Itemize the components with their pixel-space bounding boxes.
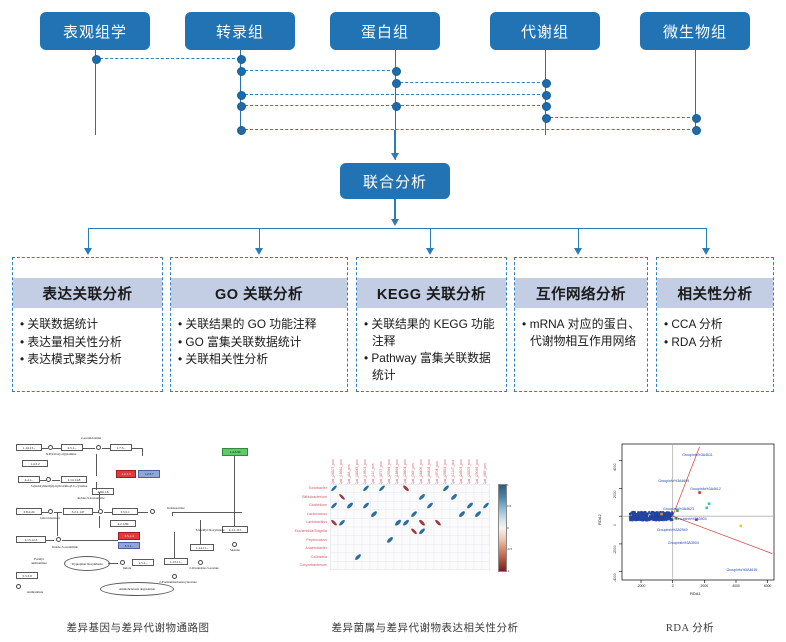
rda-sample-label: GroupInfo%3A3903: [668, 541, 699, 545]
kegg-compound-node: [46, 477, 51, 482]
arrow-head-icon: [574, 248, 582, 255]
link-transcriptome-proteome: [240, 70, 395, 71]
rda-x-tick-label: 4000: [730, 584, 742, 588]
colorbar-tick-label: 1: [507, 483, 509, 487]
rda-sample-label: GroupInfo%3A4611: [682, 453, 713, 457]
kegg-compound-label: 2-acetaldoxime: [71, 436, 111, 440]
card-bullet: • RDA 分析: [664, 334, 766, 351]
figure-caption-rda: RDA 分析: [600, 620, 780, 635]
kegg-edge: [42, 448, 48, 449]
link-epi-transcriptome: [95, 58, 240, 59]
kegg-edge: [108, 563, 118, 564]
kegg-node: 1.2.3.7: [138, 470, 160, 478]
kegg-edge: [54, 512, 62, 513]
kegg-node: 1.4.3.99: [222, 448, 248, 456]
kegg-compound-node: [98, 509, 103, 514]
figure-kegg-pathway: 1.14.13.-2.5.1.-2-acetaldoxime1.7.3.-N-H…: [8, 432, 264, 604]
rda-sample-label: GroupInfo%3A4623: [663, 507, 694, 511]
omics-box-label: 表观组学: [63, 21, 127, 42]
link-dot: [237, 102, 246, 111]
link-dot: [542, 91, 551, 100]
link-dot: [237, 55, 246, 64]
card-bullet: • Pathway 富集关联数据统计: [364, 350, 499, 383]
kegg-compound-label: Skatole: [224, 548, 246, 552]
correlation-column-label: Cpd_j25394_pos: [387, 459, 391, 485]
rda-x-tick-label: -2000: [635, 584, 647, 588]
omics-box-label: 蛋白组: [361, 21, 409, 42]
kegg-compound-node: [48, 509, 53, 514]
analysis-card-go-correlation[interactable]: GO 关联分析 • 关联结果的 GO 功能注释 • GO 富集关联数据统计 • …: [170, 257, 348, 392]
kegg-compound-label: Indole: [116, 566, 138, 570]
kegg-compound-label: Formyl anthranilate: [26, 557, 52, 566]
link-transcriptome-metabolome: [240, 94, 545, 95]
arrow-head-icon: [391, 153, 399, 160]
link-dot: [237, 91, 246, 100]
distribution-bus: [88, 228, 707, 229]
correlation-column-label: Cpd_j28305_pos: [467, 459, 471, 485]
flow-diagram: 表观组学 转录组 蛋白组 代谢组 微生物组: [0, 0, 786, 400]
kegg-edge: [142, 448, 143, 456]
kegg-map-link: Tryptophan biosynthesis: [64, 556, 110, 571]
colorbar-tick-label: -1: [507, 569, 510, 573]
rda-sample-label: GroupInfo%3A4615: [727, 568, 758, 572]
rda-sample-label: GroupInfo%3A4612: [690, 487, 721, 491]
correlation-colorbar: [498, 484, 507, 572]
card-bullet: • CCA 分析: [664, 316, 766, 333]
rda-point: [660, 513, 663, 516]
arrow-joint-to-bus: [394, 199, 395, 221]
card-bullet: • 表达模式聚类分析: [20, 351, 155, 368]
figure-caption-pathway: 差异基因与差异代谢物通路图: [8, 620, 268, 635]
rda-point: [698, 491, 701, 494]
rda-x-tick-label: 0: [667, 584, 679, 588]
colorbar-tick-label: 0.5: [507, 504, 511, 508]
link-dot: [692, 114, 701, 123]
card-bullet: • 关联相关性分析: [178, 351, 340, 368]
link-dot: [542, 102, 551, 111]
kegg-node: 1.14.13.-: [16, 444, 42, 451]
kegg-compound-node: [172, 574, 177, 579]
kegg-node: 4.2.1.84: [110, 520, 136, 527]
kegg-edge: [172, 512, 242, 513]
card-title: GO 关联分析: [171, 278, 347, 308]
kegg-compound-label: N-Hydroxy-tryptamine: [44, 452, 78, 456]
correlation-column-label: Cpd_j28406_pos: [419, 459, 423, 485]
kegg-edge: [53, 448, 61, 449]
link-dot: [392, 67, 401, 76]
card-body: • 关联结果的 GO 功能注释 • GO 富集关联数据统计 • 关联相关性分析: [171, 314, 347, 387]
kegg-compound-label: Anthranilate: [20, 590, 50, 594]
correlation-column-label: Cpd_j8717_pos: [379, 461, 383, 485]
kegg-edge: [46, 540, 54, 541]
omics-box-label: 转录组: [216, 21, 264, 42]
analysis-card-kegg-correlation[interactable]: KEGG 关联分析 • 关联结果的 KEGG 功能注释 • Pathway 富集…: [356, 257, 507, 392]
kegg-node: 4.4.1.-: [18, 476, 40, 483]
omics-box-metabolome[interactable]: 代谢组: [490, 12, 600, 50]
link-dot: [392, 102, 401, 111]
omics-box-microbiome[interactable]: 微生物组: [640, 12, 750, 50]
omics-box-label: 微生物组: [663, 21, 727, 42]
correlation-column-label: Cpd_j29824_pos: [443, 459, 447, 485]
correlation-column-label: Cpd_j465_pos: [483, 463, 487, 485]
arrow-head-icon: [84, 248, 92, 255]
kegg-node: 1.13.12.3: [16, 536, 46, 543]
kegg-edge: [96, 454, 97, 476]
kegg-node: 1.14.14.8: [61, 476, 87, 483]
link-proteome-metabolome: [395, 82, 545, 83]
kegg-compound-node: [150, 509, 155, 514]
omics-box-proteome[interactable]: 蛋白组: [330, 12, 440, 50]
correlation-column-label: Cpd_j19503_pos: [363, 459, 367, 485]
rda-y-tick-label: 2000: [613, 491, 617, 499]
kegg-edge: [172, 512, 173, 516]
kegg-node: 1.2.1.3: [116, 470, 136, 478]
kegg-compound-label: Indoleacetate: [158, 506, 194, 510]
arrow-head-icon: [255, 248, 263, 255]
correlation-column-label: Cpd_j28307_pos: [331, 459, 335, 485]
bus-drop-4: [578, 228, 579, 250]
figure-correlation-ellipses: Cpd_j28307_posCpd_j18931_posCpd_jAA_posC…: [292, 432, 560, 604]
card-body: • mRNA 对应的蛋白、代谢物相互作用网络: [515, 314, 647, 387]
rda-y-axis-label: RDA2: [597, 514, 602, 525]
link-dot: [92, 55, 101, 64]
rda-sample-label: GroupInfo%3A4609: [658, 479, 689, 483]
correlation-column-label: Cpd_j110_pos: [371, 463, 375, 485]
kegg-node: 2.5.1.-: [132, 559, 154, 566]
card-bullet: • 表达量相关性分析: [20, 334, 155, 351]
link-dot: [542, 114, 551, 123]
kegg-edge: [62, 540, 118, 541]
rda-x-axis-label: RDA1: [690, 591, 701, 596]
rda-point: [739, 525, 742, 528]
correlation-row-label: Lactococcus: [292, 512, 327, 516]
kegg-node: 3.3.1.-: [118, 542, 140, 549]
correlation-row-label: Clostridium: [292, 503, 327, 507]
correlation-row-label: Anaerobacter: [292, 546, 327, 550]
kegg-edge: [83, 448, 95, 449]
kegg-edge: [102, 448, 110, 449]
kegg-compound-node: [198, 560, 203, 565]
card-bullet: • 关联数据统计: [20, 316, 155, 333]
figure-caption-correlation: 差异菌属与差异代谢物表达相关性分析: [290, 620, 560, 635]
kegg-node: 2.8.2.24: [16, 508, 42, 515]
rda-y-tick-label: -2000: [613, 545, 617, 554]
rda-y-tick-label: 0: [613, 524, 617, 526]
kegg-node: 2.5.1.-: [61, 444, 83, 451]
kegg-edge: [132, 448, 142, 449]
card-title: 相关性分析: [657, 278, 773, 308]
link-dot: [542, 79, 551, 88]
correlation-row-label: Bifidobacterium: [292, 495, 327, 499]
joint-analysis-box[interactable]: 联合分析: [340, 163, 450, 199]
bus-drop-3: [430, 228, 431, 250]
bus-drop-2: [259, 228, 260, 250]
card-title: 表达关联分析: [13, 278, 162, 308]
omics-box-transcriptome[interactable]: 转录组: [185, 12, 295, 50]
correlation-column-label: Cpd_j24503_pos: [459, 459, 463, 485]
analysis-card-interaction-network[interactable]: 互作网络分析 • mRNA 对应的蛋白、代谢物相互作用网络: [514, 257, 648, 392]
rda-y-tick-label: -4000: [613, 573, 617, 582]
kegg-edge: [234, 456, 235, 498]
kegg-edge: [99, 516, 100, 528]
card-body: • 关联结果的 KEGG 功能注释 • Pathway 富集关联数据统计: [357, 314, 506, 387]
kegg-compound-label: 3-Methyl dioxyindole: [194, 528, 226, 532]
card-bullet: • 关联结果的 KEGG 功能注释: [364, 316, 499, 349]
correlation-row-label: Lactobacillus: [292, 520, 327, 524]
kegg-node: 3.5.5.1: [112, 508, 138, 515]
rda-x-tick-label: 2000: [698, 584, 710, 588]
arrow-to-joint-analysis: [394, 130, 395, 155]
card-title: 互作网络分析: [515, 278, 647, 308]
rda-x-tick-label: 6000: [762, 584, 774, 588]
correlation-column-label: Cpd_j28604_pos: [403, 459, 407, 485]
correlation-column-label: Cpd_j38243_pos: [355, 459, 359, 485]
kegg-node: 3.5.1.4: [118, 532, 140, 540]
kegg-compound-label: 3-(indolylmethyl)-hydroximoyl-L-cysteine: [22, 484, 96, 488]
kegg-node: 1.14.11.-: [190, 544, 214, 551]
arrow-head-icon: [702, 248, 710, 255]
joint-analysis-label: 联合分析: [363, 171, 427, 192]
link-dot: [237, 67, 246, 76]
card-bullet: • mRNA 对应的蛋白、代谢物相互作用网络: [522, 316, 640, 349]
kegg-compound-node: [56, 537, 61, 542]
bus-drop-5: [706, 228, 707, 250]
kegg-edge: [174, 532, 175, 558]
card-bullet: • GO 富集关联数据统计: [178, 334, 340, 351]
kegg-pathway-canvas: 1.14.13.-2.5.1.-2-acetaldoxime1.7.3.-N-H…: [8, 432, 264, 604]
link-transcriptome-microbiome: [240, 129, 695, 130]
kegg-edge: [52, 480, 60, 481]
kegg-edge: [96, 482, 97, 490]
kegg-edge: [104, 512, 112, 513]
kegg-edge: [138, 512, 148, 513]
analysis-card-expression-correlation[interactable]: 表达关联分析 • 关联数据统计 • 表达量相关性分析 • 表达模式聚类分析: [12, 257, 163, 392]
correlation-row-label: Escherichia/Shigella: [292, 529, 327, 533]
link-dot: [392, 79, 401, 88]
link-dot: [237, 126, 246, 135]
correlation-column-label: Cpd_j4704_pos: [435, 461, 439, 485]
omics-box-label: 代谢组: [521, 21, 569, 42]
kegg-compound-node: [96, 445, 101, 450]
correlation-matrix-canvas: Cpd_j28307_posCpd_j18931_posCpd_jAA_posC…: [292, 432, 560, 604]
colorbar-tick-label: -0.5: [507, 547, 512, 551]
link-metabolome-microbiome: [545, 117, 695, 118]
correlation-row-label: Collinsella: [292, 555, 327, 559]
kegg-node: 1.13.11.-: [164, 558, 188, 565]
correlation-column-label: Cpd_jAA_pos: [347, 464, 351, 485]
correlation-column-label: Cpd_j18894_pos: [395, 459, 399, 485]
omics-joint-analysis-poster: 表观组学 转录组 蛋白组 代谢组 微生物组: [0, 0, 786, 642]
correlation-grid: [330, 484, 490, 570]
bus-drop-1: [88, 228, 89, 250]
rda-point: [705, 507, 708, 510]
kegg-compound-node: [16, 584, 21, 589]
link-dot: [692, 126, 701, 135]
correlation-row-label: Peptococcus: [292, 538, 327, 542]
kegg-compound-node: [232, 542, 237, 547]
kegg-node: 1.7.3.-: [110, 444, 132, 451]
arrow-head-icon: [426, 248, 434, 255]
card-body: • 关联数据统计 • 表达量相关性分析 • 表达模式聚类分析: [13, 314, 162, 387]
card-bullet: • 关联结果的 GO 功能注释: [178, 316, 340, 333]
figure-rda: -20000200040006000-4000-2000020004000RDA…: [596, 432, 782, 604]
kegg-compound-label: Glucobrassicin: [30, 516, 70, 520]
rda-point: [708, 502, 711, 505]
correlation-column-label: Cpd_j84408_pos: [427, 459, 431, 485]
analysis-card-correlation[interactable]: 相关性分析 • CCA 分析 • RDA 分析: [656, 257, 774, 392]
rda-sample-label: GroupInfo%3A3903: [676, 517, 707, 521]
kegg-compound-label: 2-Oxoindole-3-acetate: [186, 566, 222, 570]
card-body: • CCA 分析 • RDA 分析: [657, 314, 773, 387]
kegg-node: 5.3.3.9: [16, 572, 38, 579]
kegg-edge: [99, 492, 100, 509]
kegg-compound-node: [120, 560, 125, 565]
rda-y-tick-label: 4000: [613, 463, 617, 471]
kegg-compound-label: 2-Formaminobenzoylacetate: [156, 580, 200, 584]
kegg-node: 1.4.3.2: [22, 460, 48, 467]
correlation-row-label: Turicibacter: [292, 486, 327, 490]
kegg-compound-label: Indole-3-acetonitrile: [70, 496, 112, 500]
correlation-column-label: Cpd_j29095_pos: [475, 459, 479, 485]
rda-sample-label: GroupInfo%3A2949: [657, 528, 688, 532]
arrow-head-icon: [391, 219, 399, 226]
correlation-column-label: Cpd_j11107_pos: [451, 460, 455, 485]
card-title: KEGG 关联分析: [357, 278, 506, 308]
kegg-edge: [57, 512, 58, 536]
kegg-node: 3.2.1.147: [63, 508, 93, 515]
correlation-row-label: Corynebacterium: [292, 563, 327, 567]
omics-box-epigenomics[interactable]: 表观组学: [40, 12, 150, 50]
correlation-column-label: Cpd_j18931_pos: [339, 459, 343, 485]
correlation-column-label: Cpd_j345_pos: [411, 463, 415, 485]
kegg-compound-label: Indole-3-acetamide: [46, 545, 84, 549]
colorbar-tick-label: 0: [507, 526, 509, 530]
rda-plot-canvas: -20000200040006000-4000-2000020004000RDA…: [596, 432, 782, 604]
